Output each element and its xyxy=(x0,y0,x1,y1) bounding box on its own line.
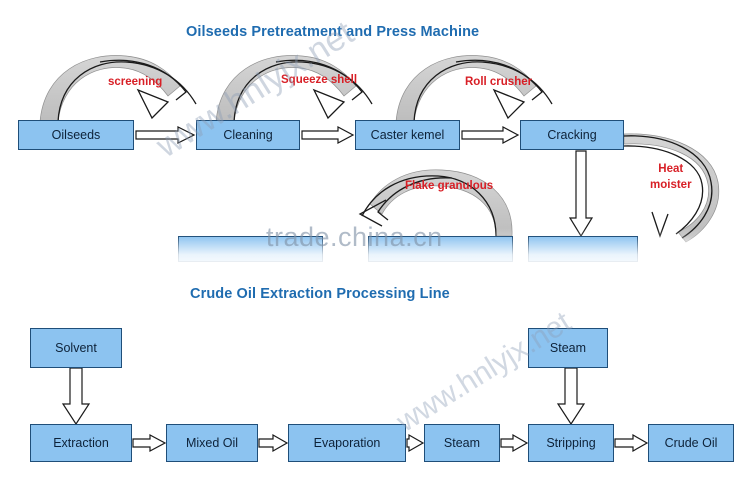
process-box-steam-top[interactable]: Steam xyxy=(528,328,608,368)
block-arrow-caster-cracking xyxy=(462,127,518,143)
arc-label-roll-crusher: Roll crusher xyxy=(465,76,532,88)
block-arrow-mixedoil-evaporation xyxy=(259,435,287,451)
arc-label-squeeze-shell: Squeeze shell xyxy=(281,74,357,86)
block-arrow-cleaning-caster xyxy=(302,127,353,143)
block-arrow-cracking-down xyxy=(570,151,592,236)
process-box-row2-1[interactable] xyxy=(178,236,323,262)
block-arrow-extraction-mixedoil xyxy=(133,435,165,451)
block-arrow-evaporation-steam xyxy=(407,435,423,451)
process-box-crude-oil[interactable]: Crude Oil xyxy=(648,424,734,462)
block-arrow-steam-down xyxy=(558,368,584,424)
watermark-diagonal-bottom: www.hnlyjx.net xyxy=(391,305,577,439)
arc-squeeze-shell xyxy=(216,56,372,122)
diagram-canvas: Oilseeds Pretreatment and Press Machine xyxy=(0,0,751,496)
process-box-cleaning[interactable]: Cleaning xyxy=(196,120,300,150)
arc-label-flake-granulous: Flake granulous xyxy=(405,180,493,192)
process-box-caster-kemel[interactable]: Caster kemel xyxy=(355,120,460,150)
block-arrow-solvent-down xyxy=(63,368,89,424)
process-box-solvent[interactable]: Solvent xyxy=(30,328,122,368)
process-box-stripping[interactable]: Stripping xyxy=(528,424,614,462)
process-box-row2-2[interactable] xyxy=(368,236,513,262)
arc-screening xyxy=(40,56,196,122)
bottom-section-title: Crude Oil Extraction Processing Line xyxy=(190,286,450,302)
arc-label-screening: screening xyxy=(108,76,162,88)
block-arrow-oilseeds-cleaning xyxy=(136,127,194,143)
process-box-evaporation[interactable]: Evaporation xyxy=(288,424,406,462)
block-arrow-steam-stripping xyxy=(501,435,527,451)
process-box-cracking[interactable]: Cracking xyxy=(520,120,624,150)
process-box-extraction[interactable]: Extraction xyxy=(30,424,132,462)
process-box-oilseeds[interactable]: Oilseeds xyxy=(18,120,134,150)
process-box-row2-3[interactable] xyxy=(528,236,638,262)
arc-roll-crusher xyxy=(396,56,552,122)
arc-label-heat-moister: Heat moister xyxy=(650,162,692,193)
process-box-steam[interactable]: Steam xyxy=(424,424,500,462)
block-arrow-stripping-crudeoil xyxy=(615,435,647,451)
process-box-mixed-oil[interactable]: Mixed Oil xyxy=(166,424,258,462)
top-section-title: Oilseeds Pretreatment and Press Machine xyxy=(186,24,479,40)
